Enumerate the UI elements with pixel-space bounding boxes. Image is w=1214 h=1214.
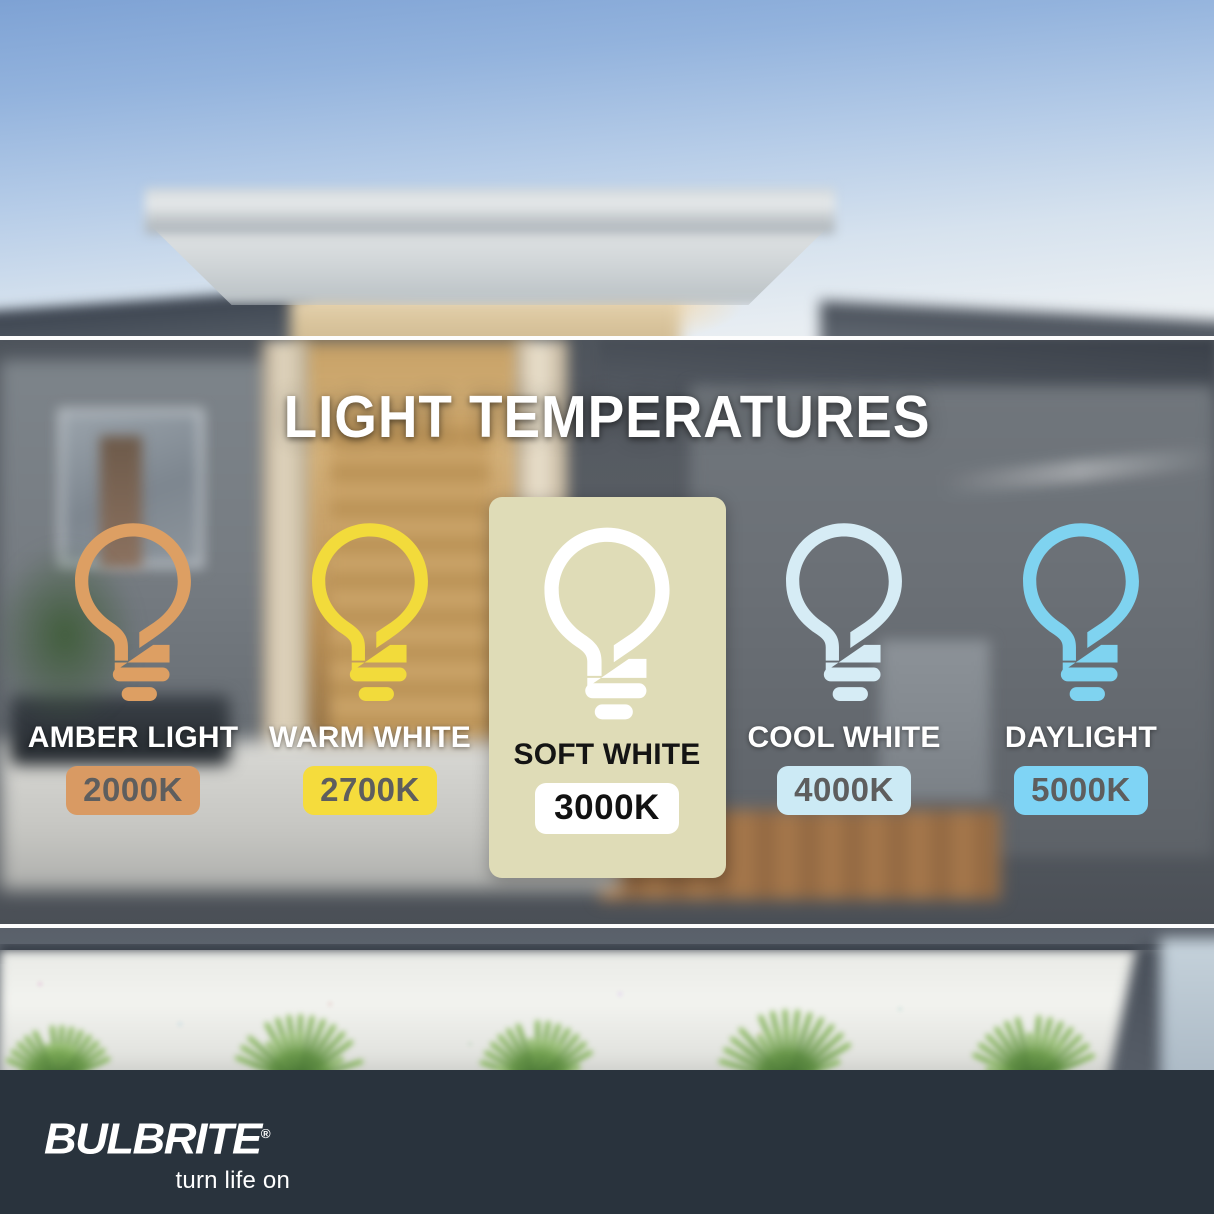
temperature-card-3000k[interactable]: SOFT WHITE3000K xyxy=(489,497,726,878)
temperature-card-2700k[interactable]: WARM WHITE2700K xyxy=(252,497,489,815)
temperature-card-5000k[interactable]: DAYLIGHT5000K xyxy=(963,497,1200,815)
temperature-name: SOFT WHITE xyxy=(514,738,701,772)
kelvin-badge: 2000K xyxy=(66,766,200,815)
temperature-name: DAYLIGHT xyxy=(1005,721,1157,755)
photo-roofline xyxy=(145,188,835,234)
registered-trademark-icon: ® xyxy=(261,1126,271,1141)
lightbulb-icon-wrap xyxy=(70,519,196,709)
temperature-scale-row: AMBER LIGHT2000KWARM WHITE2700KSOFT WHIT… xyxy=(0,497,1214,897)
photo-sky-sliver xyxy=(1160,938,1214,1088)
kelvin-badge: 2700K xyxy=(303,766,437,815)
temperature-card-4000k[interactable]: COOL WHITE4000K xyxy=(726,497,963,815)
brand-wordmark: BULBRITE® xyxy=(44,1112,302,1162)
photo-roof-right xyxy=(820,301,1214,340)
background-photo-sky xyxy=(0,0,1214,340)
kelvin-badge: 5000K xyxy=(1014,766,1148,815)
lightbulb-icon xyxy=(1018,519,1144,709)
lightbulb-icon xyxy=(307,519,433,709)
lightbulb-icon xyxy=(70,519,196,709)
lightbulb-icon xyxy=(781,519,907,709)
kelvin-badge: 4000K xyxy=(777,766,911,815)
temperature-name: WARM WHITE xyxy=(269,721,471,755)
photo-canopy xyxy=(150,225,830,305)
temperature-name: COOL WHITE xyxy=(747,721,940,755)
brand-tagline: turn life on xyxy=(44,1168,294,1194)
divider-top xyxy=(0,336,1214,340)
lightbulb-icon-wrap xyxy=(539,523,675,728)
brand-logo: BULBRITE® turn life on xyxy=(44,1112,294,1194)
lightbulb-icon-wrap xyxy=(1018,519,1144,709)
lightbulb-icon-wrap xyxy=(781,519,907,709)
temperature-card-2000k[interactable]: AMBER LIGHT2000K xyxy=(15,497,252,815)
temperature-name: AMBER LIGHT xyxy=(28,721,239,755)
lightbulb-icon xyxy=(539,523,675,728)
infographic-canvas: LIGHT TEMPERATURES AMBER LIGHT2000KWARM … xyxy=(0,0,1214,1214)
page-title: LIGHT TEMPERATURES xyxy=(42,386,1171,448)
lightbulb-icon-wrap xyxy=(307,519,433,709)
divider-bottom xyxy=(0,924,1214,928)
brand-name: BULBRITE xyxy=(44,1115,261,1164)
kelvin-badge: 3000K xyxy=(535,783,679,834)
